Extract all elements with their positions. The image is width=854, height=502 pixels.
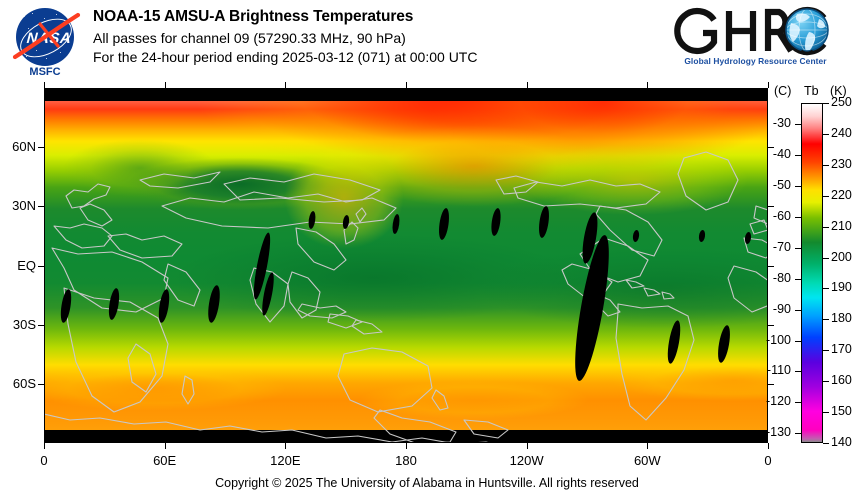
- x-axis-label: 0: [738, 453, 798, 468]
- x-axis-label: 180: [376, 453, 436, 468]
- colorbar-tick-celsius: [795, 279, 801, 280]
- colorbar-label-celsius: -130: [751, 425, 791, 439]
- y-axis-label: 60N: [0, 139, 36, 154]
- colorbar-tick-kelvin: [823, 319, 829, 320]
- x-axis-tick: [406, 82, 407, 88]
- colorbar-tick-celsius: [795, 217, 801, 218]
- ghrc-logo: Global Hydrology Resource Center: [673, 6, 838, 74]
- title-block: NOAA-15 AMSU-A Brightness Temperatures A…: [93, 8, 477, 68]
- colorbar-tick-kelvin: [823, 443, 829, 444]
- colorbar-unit-celsius: (C): [774, 84, 791, 98]
- colorbar-label-kelvin: 150: [831, 404, 852, 418]
- colorbar-tick-celsius: [795, 371, 801, 372]
- x-axis-tick: [406, 443, 407, 449]
- map-frame-border: [44, 88, 768, 443]
- colorbar-label-celsius: -40: [751, 147, 791, 161]
- colorbar-label-celsius: -70: [751, 240, 791, 254]
- map-plot-area: [44, 88, 768, 443]
- colorbar-tick-kelvin: [823, 258, 829, 259]
- colorbar-tick-celsius: [795, 186, 801, 187]
- colorbar-label-celsius: -90: [751, 302, 791, 316]
- y-axis-tick: [38, 266, 44, 267]
- x-axis-tick: [768, 82, 769, 88]
- y-axis-tick: [768, 266, 774, 267]
- colorbar-tick-celsius: [795, 433, 801, 434]
- y-axis-label: 30S: [0, 317, 36, 332]
- y-axis-tick: [38, 147, 44, 148]
- colorbar-gradient: [801, 103, 823, 443]
- colorbar-label-kelvin: 170: [831, 342, 852, 356]
- colorbar-tick-kelvin: [823, 412, 829, 413]
- x-axis-tick: [527, 82, 528, 88]
- x-axis-tick: [647, 443, 648, 449]
- colorbar-label-kelvin: 160: [831, 373, 852, 387]
- colorbar-label-celsius: -60: [751, 209, 791, 223]
- x-axis-tick: [647, 82, 648, 88]
- colorbar-tick-kelvin: [823, 227, 829, 228]
- y-axis-tick: [768, 325, 774, 326]
- colorbar-label-kelvin: 220: [831, 188, 852, 202]
- y-axis-tick: [768, 384, 774, 385]
- colorbar-label-kelvin: 200: [831, 250, 852, 264]
- colorbar-label-kelvin: 180: [831, 311, 852, 325]
- title-subline-period: For the 24-hour period ending 2025-03-12…: [93, 49, 477, 65]
- y-axis-label: 30N: [0, 198, 36, 213]
- x-axis-tick: [285, 82, 286, 88]
- nasa-logo: NASA MSFC: [12, 6, 84, 78]
- y-axis-label: EQ: [0, 258, 36, 273]
- x-axis-tick: [44, 443, 45, 449]
- colorbar-label-celsius: -50: [751, 178, 791, 192]
- colorbar-tick-kelvin: [823, 165, 829, 166]
- colorbar-tick-celsius: [795, 341, 801, 342]
- x-axis-tick: [527, 443, 528, 449]
- colorbar-label-celsius: -120: [751, 394, 791, 408]
- colorbar-tick-celsius: [795, 124, 801, 125]
- colorbar-quantity-label: Tb: [804, 84, 819, 98]
- x-axis-tick: [44, 82, 45, 88]
- colorbar-label-kelvin: 190: [831, 280, 852, 294]
- x-axis-tick: [768, 443, 769, 449]
- colorbar-label-kelvin: 140: [831, 435, 852, 449]
- colorbar-tick-celsius: [795, 310, 801, 311]
- colorbar-tick-kelvin: [823, 288, 829, 289]
- colorbar-label-celsius: -30: [751, 116, 791, 130]
- colorbar[interactable]: [801, 103, 823, 443]
- x-axis-label: 120W: [497, 453, 557, 468]
- nasa-red-chevron-icon: [12, 12, 82, 62]
- colorbar-tick-kelvin: [823, 350, 829, 351]
- y-axis-tick: [768, 206, 774, 207]
- colorbar-label-kelvin: 230: [831, 157, 852, 171]
- colorbar-tick-celsius: [795, 155, 801, 156]
- msfc-label: MSFC: [16, 66, 74, 78]
- colorbar-label-kelvin: 210: [831, 219, 852, 233]
- ghrc-acronym-icon: [673, 6, 838, 58]
- x-axis-label: 120E: [255, 453, 315, 468]
- colorbar-label-celsius: -110: [751, 363, 791, 377]
- colorbar-tick-celsius: [795, 248, 801, 249]
- y-axis-tick: [38, 206, 44, 207]
- colorbar-label-celsius: -80: [751, 271, 791, 285]
- title-subline-channel: All passes for channel 09 (57290.33 MHz,…: [93, 30, 477, 46]
- y-axis-label: 60S: [0, 376, 36, 391]
- colorbar-tick-celsius: [795, 402, 801, 403]
- ghrc-tagline: Global Hydrology Resource Center: [673, 56, 838, 66]
- colorbar-tick-kelvin: [823, 381, 829, 382]
- page-title: NOAA-15 AMSU-A Brightness Temperatures: [93, 8, 477, 26]
- x-axis-tick: [165, 82, 166, 88]
- x-axis-label: 60E: [135, 453, 195, 468]
- colorbar-label-kelvin: 250: [831, 95, 852, 109]
- y-axis-tick: [38, 384, 44, 385]
- x-axis-label: 0: [14, 453, 74, 468]
- y-axis-tick: [38, 325, 44, 326]
- colorbar-label-celsius: -100: [751, 333, 791, 347]
- colorbar-tick-kelvin: [823, 196, 829, 197]
- x-axis-tick: [285, 443, 286, 449]
- colorbar-label-kelvin: 240: [831, 126, 852, 140]
- x-axis-tick: [165, 443, 166, 449]
- copyright-notice: Copyright © 2025 The University of Alaba…: [0, 476, 854, 490]
- x-axis-label: 60W: [617, 453, 677, 468]
- colorbar-tick-kelvin: [823, 103, 829, 104]
- colorbar-tick-kelvin: [823, 134, 829, 135]
